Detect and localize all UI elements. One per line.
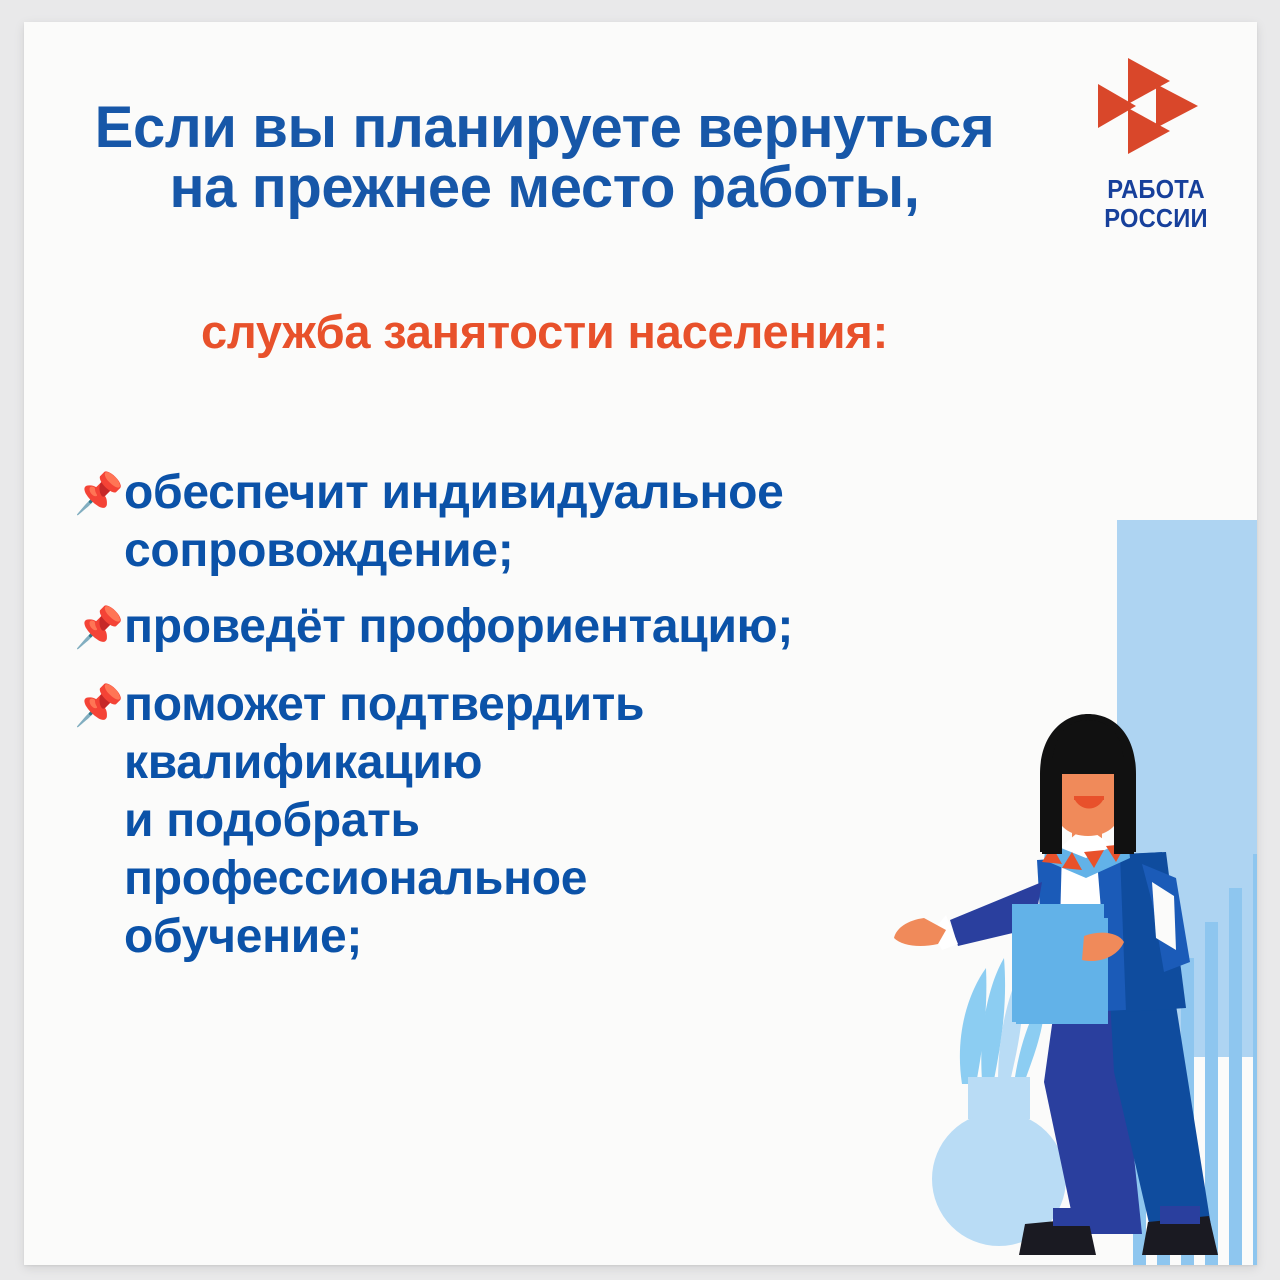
potted-plant (932, 958, 1066, 1246)
logo-line-1: РАБОТА (1082, 176, 1231, 205)
benefits-list: 📌 обеспечит индивидуальное сопровождение… (60, 464, 1080, 984)
list-item-label: проведёт профориентацию; (124, 598, 1080, 656)
poster-card: РАБОТА РОССИИ Если вы планируете вернуть… (24, 22, 1257, 1265)
list-item: 📌 поможет подтвердить квалификацию и под… (60, 676, 1080, 966)
logo-line-2: РОССИИ (1082, 205, 1231, 234)
list-item-label: обеспечит индивидуальное сопровождение; (124, 464, 1080, 580)
rabota-rossii-triangles-icon (1098, 58, 1214, 168)
list-item: 📌 обеспечит индивидуальное сопровождение… (60, 464, 1080, 580)
logo-wordmark: РАБОТА РОССИИ (1082, 176, 1231, 234)
headline-line-1: Если вы планируете вернуться (32, 98, 1057, 158)
subtitle: служба занятости населения: (32, 304, 1057, 360)
page-title: Если вы планируете вернуться на прежнее … (32, 98, 1057, 218)
pushpin-icon: 📌 (60, 464, 124, 524)
backdrop-shape (1117, 520, 1257, 1057)
list-item: 📌 проведёт профориентацию; (60, 598, 1080, 658)
stripe-group (1133, 854, 1257, 1265)
headline-line-2: на прежнее место работы, (32, 158, 1057, 218)
pushpin-icon: 📌 (60, 676, 124, 736)
rabota-rossii-logo: РАБОТА РОССИИ (1076, 58, 1236, 248)
list-item-label: поможет подтвердить квалификацию и подоб… (124, 676, 1080, 966)
pushpin-icon: 📌 (60, 598, 124, 658)
